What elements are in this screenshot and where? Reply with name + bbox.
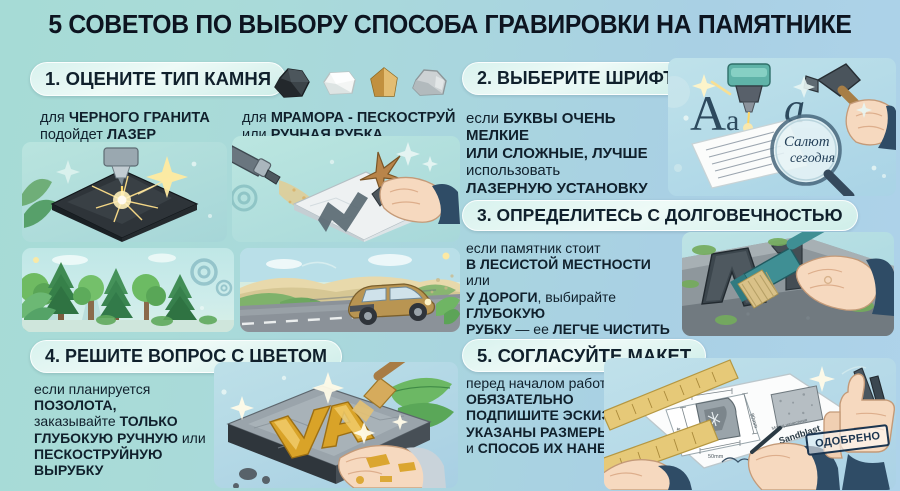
tip-2-header: 2. ВЫБЕРИТЕ ШРИФТ (462, 62, 689, 95)
tip3-l3-bold2: ГЛУБОКУЮ (466, 305, 545, 321)
magnified-script-line1: Салют (784, 134, 830, 150)
tip4-l1-regular: если планируется (34, 381, 150, 397)
tip1-l1-bold: ЧЕРНОГО ГРАНИТА (69, 110, 210, 126)
forest-scene-illustration (22, 248, 234, 332)
golden-sandstone-stone-icon (366, 66, 404, 100)
tip-4-text: если планируется ПОЗОЛОТА, заказывайте Т… (34, 381, 234, 478)
tip3-l3-bold: У ДОРОГИ (466, 289, 538, 305)
marble-sandblast-illustration (232, 136, 460, 242)
tip5-l5-regular: и (466, 440, 478, 456)
tip1-l2-bold: ЛАЗЕР (107, 127, 156, 143)
tip3-l4-bold2: ЛЕГЧЕ ЧИСТИТЬ (553, 321, 670, 337)
gear-icon (192, 260, 231, 295)
tip3-l4-mid: — ее (512, 321, 553, 337)
tip-1-header: 1. ОЦЕНИТЕ ТИП КАМНЯ (30, 62, 286, 96)
tip-3-header: 3. ОПРЕДЕЛИТЕСЬ С ДОЛГОВЕЧНОСТЬЮ (462, 200, 858, 231)
font-laser-illustration: A a a Салют сегодня (668, 58, 896, 196)
infographic-poster: 5 СОВЕТОВ ПО ВЫБОРУ СПОСОБА ГРАВИРОВКИ Н… (0, 0, 900, 491)
tip3-l4-bold: РУБКУ (466, 321, 512, 337)
tip1-r1-bold: МРАМОРА - ПЕСКОСТРУЙ (271, 110, 456, 126)
laser-granite-illustration (22, 142, 227, 242)
tip5-l2-bold: ОБЯЗАТЕЛЬНО (466, 391, 574, 407)
tip4-l3-bold: ТОЛЬКО (120, 413, 178, 429)
serif-letter-A: A (690, 85, 726, 141)
stone-type-icons (272, 60, 450, 104)
black-granite-stone-icon (272, 66, 312, 100)
sketch-approval-illustration: 60mm 80mm 40mm 50mm Sandblast Метод нане… (604, 358, 896, 490)
white-marble-stone-icon (319, 66, 359, 100)
tip1-l2-regular: подойдет (40, 127, 107, 143)
tip5-l1-regular: перед началом работ (466, 375, 606, 391)
gold-leaf-illustration (214, 362, 458, 488)
tip2-l3-regular: использовать (466, 162, 560, 179)
magnifier-icon: Салют сегодня (772, 116, 850, 196)
tip4-l5-bold: ПЕСКОСТРУЙНУЮ ВЫРУБКУ (34, 446, 162, 478)
tip1-l1-regular: для (40, 110, 69, 126)
page-title: 5 СОВЕТОВ ПО ВЫБОРУ СПОСОБА ГРАВИРОВКИ Н… (14, 11, 887, 40)
tip1-r1-regular: для (242, 110, 271, 126)
tip4-l3-regular: заказывайте (34, 413, 120, 429)
tip4-l2-bold: ПОЗОЛОТА, (34, 397, 116, 413)
tip2-l4-bold: ЛАЗЕРНУЮ УСТАНОВКУ (466, 180, 648, 197)
grey-granite-stone-icon (410, 66, 450, 100)
tip3-l3-mid: , выбирайте (538, 289, 617, 305)
tip4-l4-tail: или (178, 430, 206, 446)
tip2-l2-bold: ИЛИ СЛОЖНЫЕ, ЛУЧШЕ (466, 145, 648, 162)
tip5-l3-bold: ПОДПИШИТЕ ЭСКИЗ (466, 407, 610, 423)
dimension-label-bottom: 50mm (708, 454, 724, 460)
tip-2-text: если БУКВЫ ОЧЕНЬ МЕЛКИЕ ИЛИ СЛОЖНЫЕ, ЛУЧ… (466, 110, 681, 197)
tip3-l1-regular: если памятник стоит (466, 240, 601, 256)
roadside-car-illustration (240, 248, 460, 332)
tip3-l2-tail: или (466, 272, 490, 288)
brush-cleaning-illustration (682, 232, 894, 336)
tip4-l4-bold: ГЛУБОКУЮ РУЧНУЮ (34, 430, 178, 446)
gear-icon (232, 186, 256, 210)
tip2-l1-regular: если (466, 110, 503, 127)
tip3-l2-bold: В ЛЕСИСТОЙ МЕСТНОСТИ (466, 256, 651, 272)
tip-3-text: если памятник стоит В ЛЕСИСТОЙ МЕСТНОСТИ… (466, 240, 671, 337)
magnified-script-line2: сегодня (790, 151, 835, 166)
tip-1-text-left: для ЧЕРНОГО ГРАНИТА подойдет ЛАЗЕР (40, 110, 210, 144)
